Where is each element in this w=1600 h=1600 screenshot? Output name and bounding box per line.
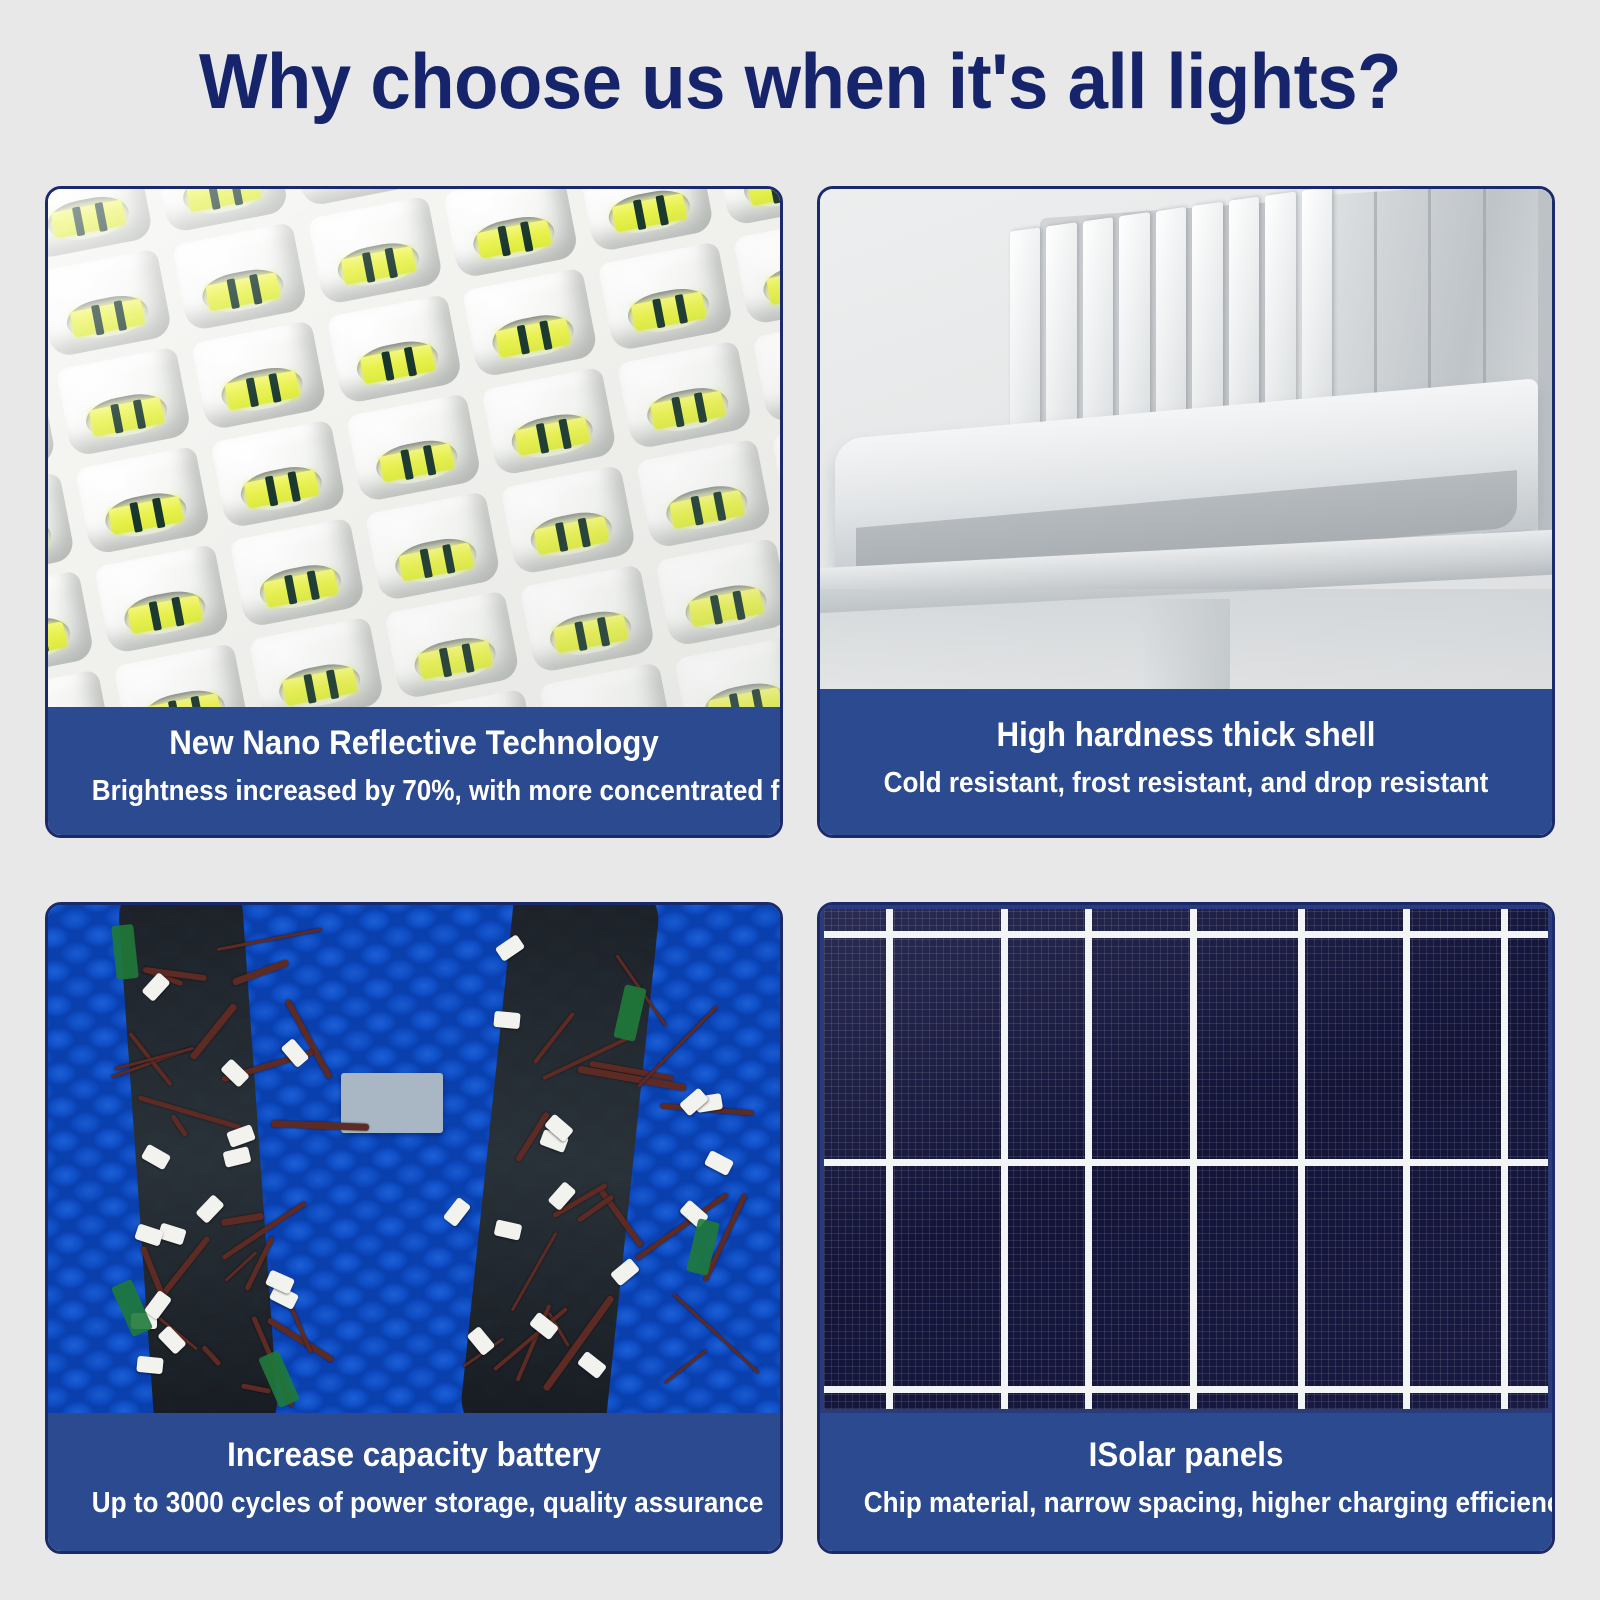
feature-card-nano-reflective-technology[interactable]: New Nano Reflective Technology Brightnes… xyxy=(45,186,783,838)
reflector-cup xyxy=(75,445,211,555)
reflector-cup xyxy=(48,669,114,706)
led-panel-art xyxy=(48,189,780,707)
card-title: ISolar panels xyxy=(857,1435,1516,1475)
surface-reflection xyxy=(820,589,1552,689)
reflector-cup xyxy=(48,248,173,358)
reflector-cup xyxy=(327,294,463,404)
solar-panel-art xyxy=(820,905,1552,1413)
card-caption: ISolar panels Chip material, narrow spac… xyxy=(820,1413,1552,1551)
solar-busbar-horizontal xyxy=(824,1386,1548,1393)
reflector-cup xyxy=(210,419,346,529)
reflector-cup xyxy=(365,492,501,602)
reflector-cup xyxy=(191,320,327,430)
feature-card-high-hardness-thick-shell[interactable]: High hardness thick shell Cold resistant… xyxy=(817,186,1555,838)
reflector-cup xyxy=(172,222,308,332)
reflector-cup xyxy=(598,241,734,351)
reflector-cup xyxy=(308,195,444,305)
heatsink-shell-image xyxy=(820,189,1552,689)
reflector-cup xyxy=(346,393,482,503)
card-subtitle: Up to 3000 cycles of power storage, qual… xyxy=(92,1485,736,1521)
led-cup-grid xyxy=(48,189,780,707)
reflector-cup xyxy=(56,347,192,457)
reflector-cup xyxy=(501,465,637,575)
led-reflector-panel-image xyxy=(48,189,780,707)
reflector-cup xyxy=(481,366,617,476)
feature-card-isolar-panels[interactable]: ISolar panels Chip material, narrow spac… xyxy=(817,902,1555,1554)
reflector-cup xyxy=(655,538,780,648)
card-caption: High hardness thick shell Cold resistant… xyxy=(820,689,1552,835)
battery-pack-image xyxy=(48,905,780,1413)
solar-busbar-horizontal xyxy=(824,1159,1548,1166)
feature-card-grid: New Nano Reflective Technology Brightnes… xyxy=(45,186,1555,1554)
reflector-cup xyxy=(617,340,753,450)
card-subtitle: Brightness increased by 70%, with more c… xyxy=(92,773,736,809)
reflector-cup xyxy=(636,439,772,549)
solar-panel-image xyxy=(820,905,1552,1413)
reflector-cup xyxy=(520,564,656,674)
reflector-cup xyxy=(384,590,520,700)
feature-card-increase-capacity-battery[interactable]: Increase capacity battery Up to 3000 cyc… xyxy=(45,902,783,1554)
heatsink-art xyxy=(820,189,1552,689)
solar-busbar-horizontal xyxy=(824,931,1548,938)
card-caption: New Nano Reflective Technology Brightnes… xyxy=(48,707,780,835)
card-caption: Increase capacity battery Up to 3000 cyc… xyxy=(48,1413,780,1551)
reflector-cup xyxy=(94,544,230,654)
card-title: Increase capacity battery xyxy=(85,1435,744,1475)
reflector-cup xyxy=(462,268,598,378)
card-title: High hardness thick shell xyxy=(857,715,1516,755)
reflector-cup xyxy=(733,215,780,325)
card-subtitle: Cold resistant, frost resistant, and dro… xyxy=(864,765,1508,801)
page-title: Why choose us when it's all lights? xyxy=(56,36,1544,127)
battery-art xyxy=(48,905,780,1413)
battery-connector xyxy=(494,1011,521,1029)
card-title: New Nano Reflective Technology xyxy=(85,723,744,763)
card-subtitle: Chip material, narrow spacing, higher ch… xyxy=(864,1485,1508,1521)
battery-connector xyxy=(136,1356,163,1375)
infographic-page: Why choose us when it's all lights? New … xyxy=(0,0,1600,1600)
reflector-cup xyxy=(230,518,366,628)
